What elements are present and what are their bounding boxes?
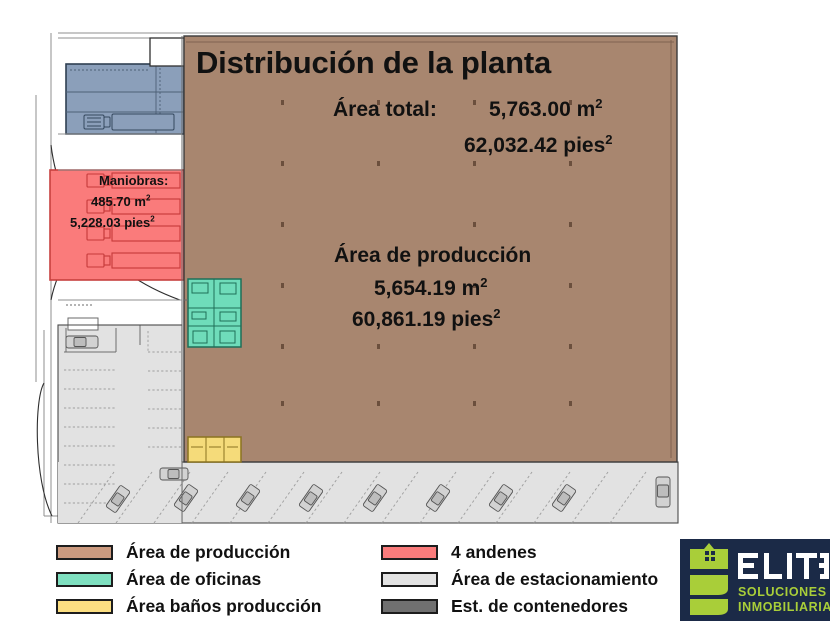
legend-column-right: 4 andenes Área de estacionamiento Est. d… [381,539,658,620]
total-area-sqft-value: 62,032.42 pies [464,134,605,157]
maniobras-sqm-value: 485.70 m [91,194,146,209]
elite-logo-tagline-1: SOLUCIONES [738,585,827,599]
guard-booth [150,38,184,66]
legend-swatch-estacionamiento [381,572,438,587]
bathroom-area [188,437,241,462]
total-area-sqft-sup: 2 [605,132,612,147]
legend-swatch-produccion [56,545,113,560]
total-area-label: Área total: [333,98,437,122]
legend-label-oficinas: Área de oficinas [126,569,261,590]
total-area-sqft: 62,032.42 pies2 [464,134,613,158]
total-area-sqm: 5,763.00 m2 [489,98,603,122]
elite-logo-tagline-2: INMOBILIARIAS [738,600,830,614]
elite-logo: SOLUCIONES INMOBILIARIAS [679,538,831,622]
legend-swatch-banos [56,599,113,614]
legend-item-oficinas: Área de oficinas [56,566,321,593]
legend-item-produccion: Área de producción [56,539,321,566]
legend-label-estacionamiento: Área de estacionamiento [451,569,658,590]
legend-label-produccion: Área de producción [126,542,290,563]
page-title: Distribución de la planta [196,46,551,81]
maniobras-sqm-sup: 2 [146,194,150,203]
maniobras-label: Maniobras: [99,174,168,189]
legend-label-andenes: 4 andenes [451,542,537,563]
legend-item-estacionamiento: Área de estacionamiento [381,566,658,593]
total-area-sqm-value: 5,763.00 m [489,98,595,121]
production-area-label: Área de producción [334,244,531,268]
maniobras-sqft: 5,228.03 pies2 [70,216,155,231]
production-area-sqm: 5,654.19 m2 [374,277,488,301]
floor-plan-drawing: Distribución de la planta Área total: 5,… [0,0,840,530]
legend-item-andenes: 4 andenes [381,539,658,566]
elite-logo-wordmark [738,553,829,579]
production-area-sqm-sup: 2 [480,275,487,290]
legend-swatch-oficinas [56,572,113,587]
legend: Área de producción Área de oficinas Área… [0,533,680,628]
legend-column-left: Área de producción Área de oficinas Área… [56,539,321,620]
legend-label-contenedores: Est. de contenedores [451,596,628,617]
maniobras-sqft-value: 5,228.03 pies [70,215,150,230]
legend-swatch-contenedores [381,599,438,614]
legend-item-banos: Área baños producción [56,593,321,620]
legend-swatch-andenes [381,545,438,560]
legend-label-banos: Área baños producción [126,596,321,617]
production-area-sqft-value: 60,861.19 pies [352,308,493,331]
legend-item-contenedores: Est. de contenedores [381,593,658,620]
maniobras-sqft-sup: 2 [150,215,154,224]
floor-plan-page: Distribución de la planta Área total: 5,… [0,0,840,630]
truck-container-yard [84,114,174,130]
production-area-sqft-sup: 2 [493,306,500,321]
maniobras-sqm: 485.70 m2 [91,195,150,210]
production-area-sqft: 60,861.19 pies2 [352,308,501,332]
production-area-sqm-value: 5,654.19 m [374,277,480,300]
total-area-sqm-sup: 2 [595,96,602,111]
